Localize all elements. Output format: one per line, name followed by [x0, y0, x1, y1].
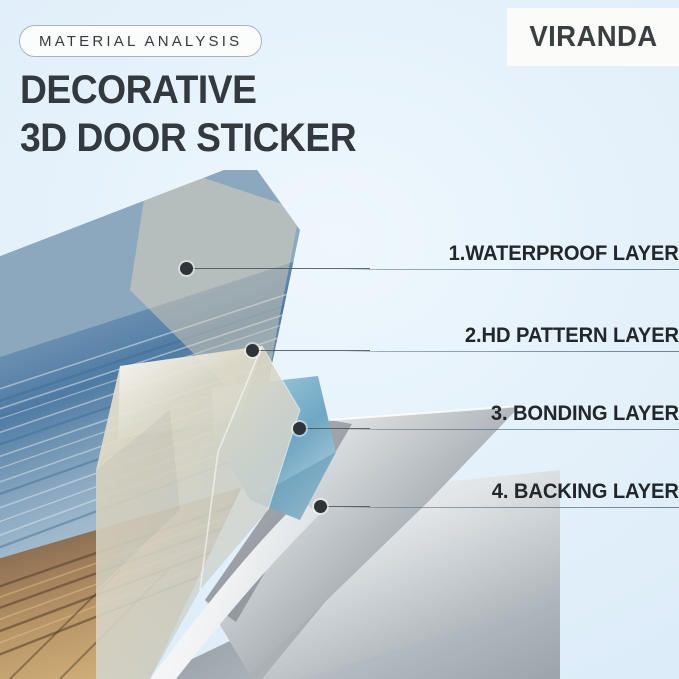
callout-rule-3	[340, 429, 679, 430]
leader-line-2	[258, 350, 370, 351]
leader-dot-4	[314, 500, 327, 513]
leader-dot-2	[246, 344, 259, 357]
callout-bonding: 3. BONDING LAYER	[340, 400, 679, 430]
leader-dot-1	[180, 262, 193, 275]
brand-logo: VIRANDA	[507, 8, 679, 66]
callout-rule-2	[340, 351, 679, 352]
callout-hd-pattern: 2.HD PATTERN LAYER	[340, 322, 679, 352]
leader-line-4	[326, 506, 370, 507]
callout-label-3: 3. BONDING LAYER	[491, 402, 679, 426]
callout-label-2: 2.HD PATTERN LAYER	[465, 324, 679, 348]
page-title: DECORATIVE 3D DOOR STICKER	[20, 66, 356, 162]
callout-rule-1	[340, 269, 679, 270]
title-line-2: 3D DOOR STICKER	[20, 114, 356, 162]
callout-backing: 4. BACKING LAYER	[340, 478, 679, 508]
leader-dot-3	[293, 422, 306, 435]
material-analysis-badge: MATERIAL ANALYSIS	[19, 25, 262, 57]
badge-label: MATERIAL ANALYSIS	[39, 33, 242, 50]
callout-label-1: 1.WATERPROOF LAYER	[449, 242, 679, 266]
infographic-canvas: MATERIAL ANALYSIS DECORATIVE 3D DOOR STI…	[0, 0, 679, 679]
brand-name: VIRANDA	[529, 21, 657, 54]
callout-rule-4	[340, 507, 679, 508]
title-line-1: DECORATIVE	[20, 66, 356, 114]
leader-line-1	[192, 268, 370, 269]
callout-label-4: 4. BACKING LAYER	[492, 480, 679, 504]
callout-waterproof: 1.WATERPROOF LAYER	[340, 240, 679, 270]
leader-line-3	[305, 428, 370, 429]
